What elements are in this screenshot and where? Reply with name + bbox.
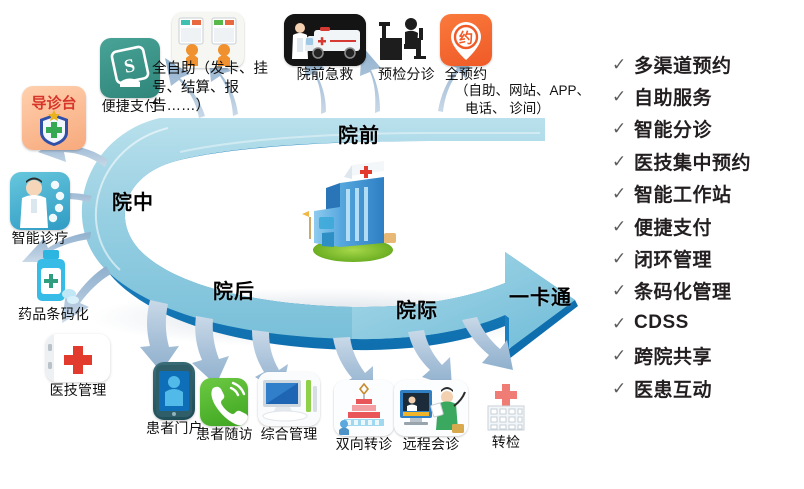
tele-consultation-icon bbox=[394, 380, 468, 436]
checklist-label: 智能分诊 bbox=[634, 115, 712, 142]
hospital-transfer-icon bbox=[478, 382, 534, 434]
node-label-easy-pay: 便捷支付 bbox=[102, 99, 159, 115]
node-transfer-exam[interactable]: 转检 bbox=[478, 382, 534, 451]
check-icon: ✓ bbox=[612, 347, 634, 364]
checklist-item: ✓ 自助服务 bbox=[612, 80, 804, 112]
smartphone-icon bbox=[153, 362, 195, 420]
desktop-computer-icon bbox=[258, 372, 320, 426]
stage-label-post: 院后 bbox=[213, 275, 255, 304]
diagram-canvas: 院前 院中 院后 院际 一卡通 bbox=[0, 0, 804, 489]
self-service-desc-line2: 号、结算、报 bbox=[152, 79, 282, 98]
svg-text:S: S bbox=[122, 55, 137, 78]
checklist-label: 条码化管理 bbox=[634, 277, 732, 304]
check-icon: ✓ bbox=[612, 250, 634, 267]
checklist-label: 多渠道预约 bbox=[634, 51, 732, 78]
node-label-smart-care: 智能诊疗 bbox=[12, 231, 69, 247]
check-icon: ✓ bbox=[612, 315, 634, 332]
svg-text:导诊台: 导诊台 bbox=[31, 94, 76, 112]
appointment-icon: 约 bbox=[440, 14, 492, 66]
checklist-label: 自助服务 bbox=[634, 83, 712, 110]
checklist-item: ✓ 医患互动 bbox=[612, 372, 804, 404]
checklist-item: ✓ 闭环管理 bbox=[612, 242, 804, 274]
check-icon: ✓ bbox=[612, 120, 634, 137]
appointment-sub-line1: （自助、网站、APP、 bbox=[455, 82, 615, 100]
node-integrated-mgmt[interactable]: 综合管理 bbox=[258, 372, 320, 443]
node-guide-desk[interactable]: 导诊台 bbox=[22, 86, 86, 150]
checklist-item: ✓ 跨院共享 bbox=[612, 340, 804, 372]
check-icon: ✓ bbox=[612, 185, 634, 202]
triage-desk-icon bbox=[378, 14, 434, 66]
check-icon: ✓ bbox=[612, 56, 634, 73]
guide-desk-icon: 导诊台 bbox=[22, 86, 86, 150]
checklist-label: 医技集中预约 bbox=[634, 148, 751, 175]
node-label-two-way-referral: 双向转诊 bbox=[336, 437, 393, 453]
node-label-patient-portal: 患者门户 bbox=[146, 421, 203, 437]
stage-label-card: 一卡通 bbox=[509, 281, 572, 310]
node-patient-portal[interactable]: 患者门户 bbox=[146, 362, 203, 437]
checklist-item: ✓ 多渠道预约 bbox=[612, 48, 804, 80]
node-label-pre-hospital: 院前急救 bbox=[297, 67, 354, 83]
feature-checklist: ✓ 多渠道预约 ✓ 自助服务 ✓ 智能分诊 ✓ 医技集中预约 ✓ 智能工作站 ✓… bbox=[612, 48, 804, 404]
node-appointment[interactable]: 约 全预约 bbox=[440, 14, 492, 83]
node-triage[interactable]: 预检分诊 bbox=[378, 14, 435, 83]
check-icon: ✓ bbox=[612, 153, 634, 170]
svg-text:约: 约 bbox=[459, 30, 473, 46]
node-pre-hospital[interactable]: 院前急救 bbox=[284, 14, 366, 83]
node-label-drug-barcode: 药品条码化 bbox=[18, 307, 89, 323]
phone-call-icon bbox=[200, 378, 248, 426]
checklist-item: ✓ 智能工作站 bbox=[612, 178, 804, 210]
medical-record-icon bbox=[46, 334, 110, 382]
referral-hospital-icon bbox=[334, 380, 394, 436]
checklist-label: CDSS bbox=[634, 312, 689, 334]
node-tele-consult[interactable]: 远程会诊 bbox=[394, 380, 468, 453]
checklist-label: 跨院共享 bbox=[634, 342, 712, 369]
check-icon: ✓ bbox=[612, 282, 634, 299]
appointment-channels: （自助、网站、APP、 电话、 诊间） bbox=[455, 82, 615, 117]
medicine-bottle-icon bbox=[23, 248, 85, 306]
checklist-label: 便捷支付 bbox=[634, 213, 712, 240]
ambulance-icon bbox=[284, 14, 366, 66]
node-med-tech[interactable]: 医技管理 bbox=[46, 334, 110, 399]
check-icon: ✓ bbox=[612, 380, 634, 397]
checklist-item: ✓ CDSS bbox=[612, 307, 804, 339]
node-follow-up[interactable]: 患者随访 bbox=[196, 378, 253, 443]
stage-label-inter: 院际 bbox=[396, 294, 438, 323]
stage-label-mid: 院中 bbox=[112, 186, 154, 215]
node-label-transfer-exam: 转检 bbox=[492, 435, 520, 451]
node-drug-barcode[interactable]: 药品条码化 bbox=[18, 248, 89, 323]
node-smart-care[interactable]: 智能诊疗 bbox=[10, 172, 70, 247]
stage-label-pre: 院前 bbox=[338, 119, 380, 148]
checklist-item: ✓ 智能分诊 bbox=[612, 113, 804, 145]
checklist-item: ✓ 医技集中预约 bbox=[612, 145, 804, 177]
check-icon: ✓ bbox=[612, 218, 634, 235]
node-easy-pay[interactable]: S 便捷支付 bbox=[100, 38, 160, 115]
node-label-triage: 预检分诊 bbox=[378, 67, 435, 83]
checklist-label: 医患互动 bbox=[634, 375, 712, 402]
node-label-follow-up: 患者随访 bbox=[196, 427, 253, 443]
self-service-desc-line3: 告……） bbox=[152, 97, 282, 116]
node-label-tele-consult: 远程会诊 bbox=[403, 437, 460, 453]
checklist-item: ✓ 条码化管理 bbox=[612, 275, 804, 307]
checklist-item: ✓ 便捷支付 bbox=[612, 210, 804, 242]
node-two-way-referral[interactable]: 双向转诊 bbox=[334, 380, 394, 453]
smart-diagnosis-icon bbox=[10, 172, 70, 230]
appointment-sub-line2: 电话、 诊间） bbox=[455, 100, 615, 118]
self-service-desc-line1: 全自助（发卡、挂 bbox=[152, 60, 282, 79]
hospital-building-icon bbox=[300, 155, 405, 265]
self-service-description: 全自助（发卡、挂 号、结算、报 告……） bbox=[152, 60, 282, 116]
checklist-label: 闭环管理 bbox=[634, 245, 712, 272]
node-label-integrated-mgmt: 综合管理 bbox=[261, 427, 318, 443]
mobile-payment-icon: S bbox=[100, 38, 160, 98]
node-label-appointment: 全预约 bbox=[445, 67, 488, 83]
check-icon: ✓ bbox=[612, 88, 634, 105]
node-label-med-tech: 医技管理 bbox=[50, 383, 107, 399]
checklist-label: 智能工作站 bbox=[634, 180, 732, 207]
